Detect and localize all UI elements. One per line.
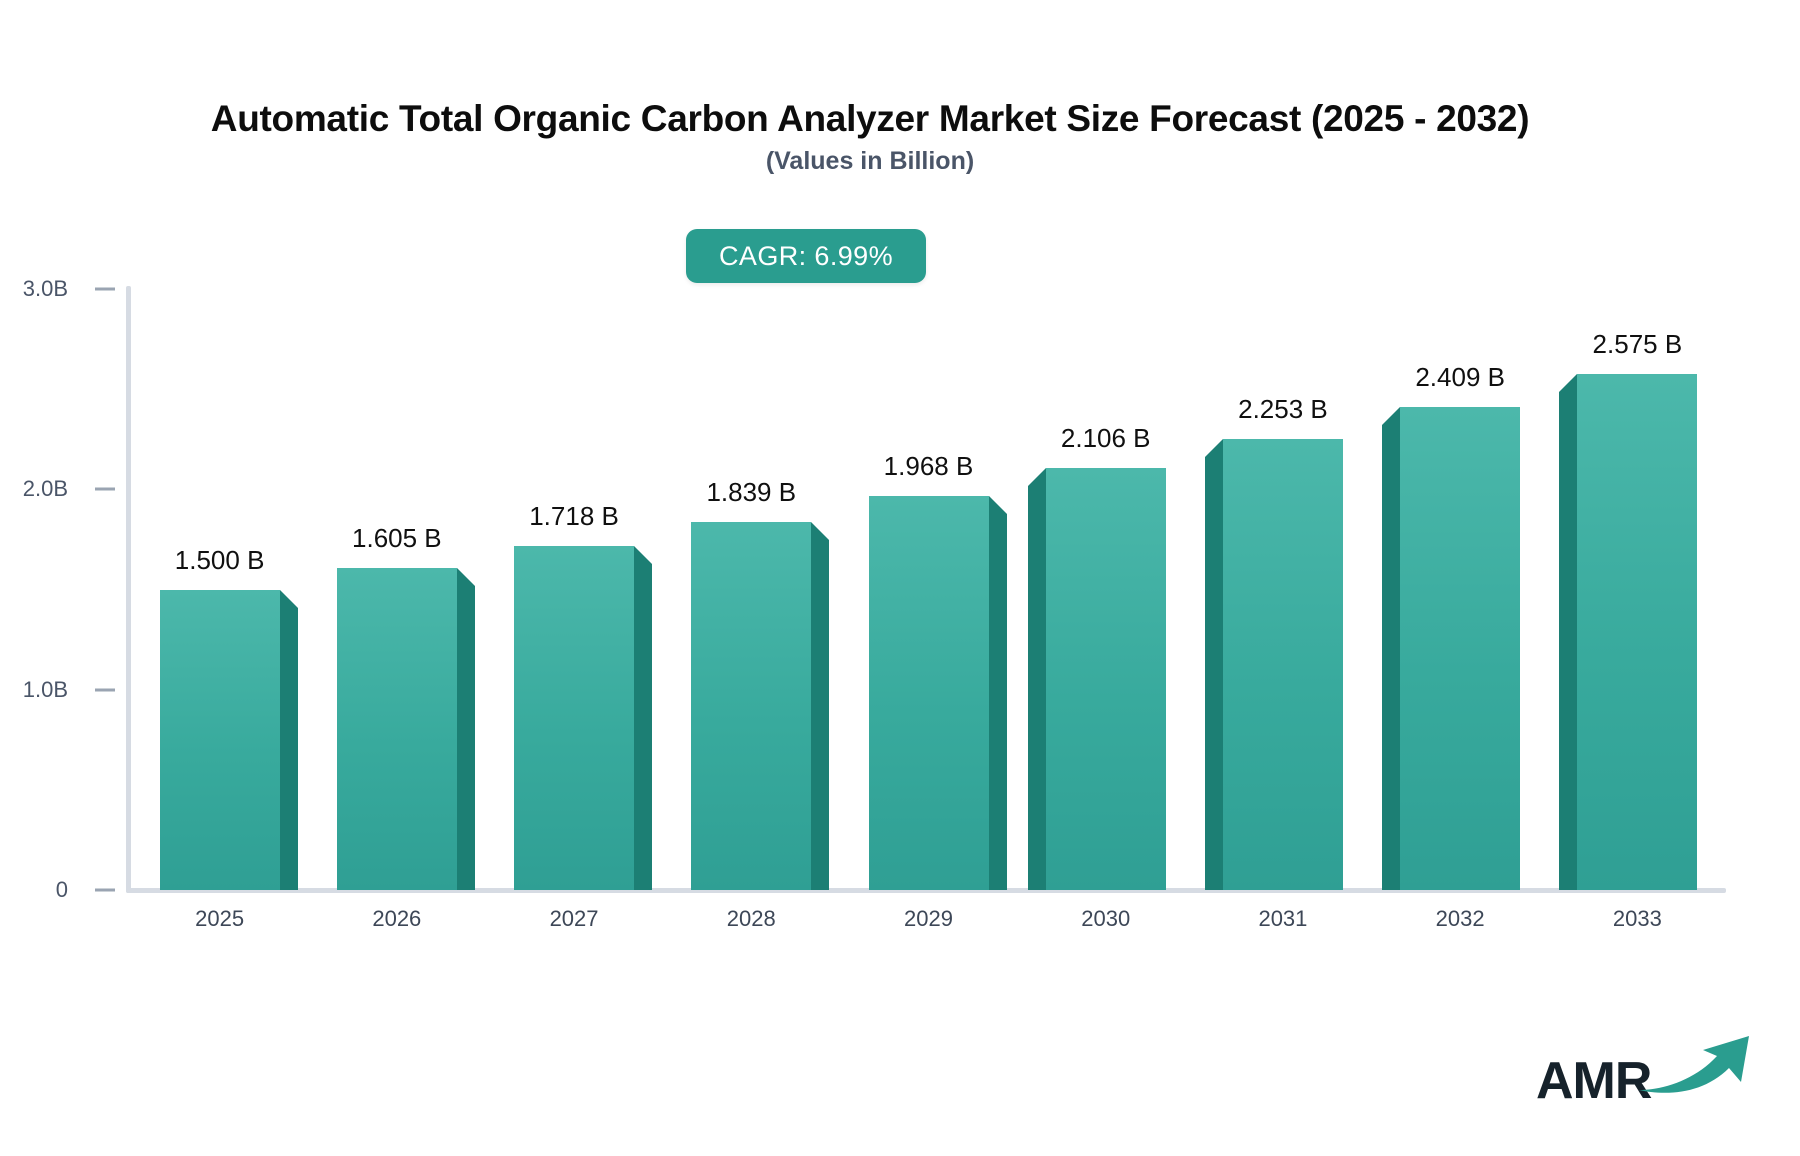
- bar-top-bevel: [811, 522, 829, 540]
- bar-side-face: [280, 608, 298, 891]
- bar-value-label: 2.106 B: [1061, 423, 1151, 454]
- y-axis-tick-label: 1.0B: [0, 677, 68, 703]
- bar-front-face: [1577, 374, 1697, 890]
- x-axis-tick-label: 2027: [514, 906, 634, 932]
- x-axis-tick-label: 2025: [160, 906, 280, 932]
- x-axis-tick-label: 2029: [869, 906, 989, 932]
- bar-top-bevel: [1028, 468, 1046, 486]
- bar-top-bevel: [457, 568, 475, 586]
- bar-side-face: [811, 540, 829, 890]
- bar-top-bevel: [280, 590, 298, 608]
- bar-top-bevel: [1559, 374, 1577, 392]
- amr-logo: AMR: [1536, 1040, 1771, 1107]
- bar-value-label: 2.253 B: [1238, 394, 1328, 425]
- x-axis-tick-label: 2031: [1223, 906, 1343, 932]
- y-axis-tick-mark: [95, 488, 115, 491]
- bar-front-face: [1400, 407, 1520, 890]
- bar: 1.718 B: [514, 546, 634, 890]
- plot-area: 01.0B2.0B3.0B 1.500 B1.605 B1.718 B1.839…: [0, 0, 1800, 1156]
- bar: 1.605 B: [337, 568, 457, 890]
- bar-top-bevel: [1382, 407, 1400, 425]
- bar-value-label: 1.968 B: [884, 451, 974, 482]
- bar-value-label: 2.409 B: [1415, 362, 1505, 393]
- bar-side-face: [457, 586, 475, 890]
- bar-value-label: 1.605 B: [352, 523, 442, 554]
- bar-front-face: [337, 568, 457, 890]
- bar-front-face: [691, 522, 811, 890]
- bar-front-face: [514, 546, 634, 890]
- y-axis-line: [126, 286, 131, 893]
- bar-value-label: 1.839 B: [706, 477, 796, 508]
- y-axis-tick-label: 0: [0, 877, 68, 903]
- bar-side-face: [1205, 457, 1223, 890]
- bar-front-face: [160, 590, 280, 891]
- growth-arrow-icon: [1637, 1034, 1757, 1101]
- chart-canvas: Automatic Total Organic Carbon Analyzer …: [0, 0, 1800, 1156]
- bar: 2.409 B: [1400, 407, 1520, 890]
- bar: 1.500 B: [160, 590, 280, 891]
- bar-side-face: [634, 564, 652, 890]
- x-axis-tick-label: 2028: [691, 906, 811, 932]
- bar-front-face: [1046, 468, 1166, 890]
- y-axis-tick-label: 2.0B: [0, 476, 68, 502]
- x-axis-tick-label: 2032: [1400, 906, 1520, 932]
- x-axis-tick-label: 2033: [1577, 906, 1697, 932]
- bar-top-bevel: [989, 496, 1007, 514]
- bar-value-label: 2.575 B: [1593, 329, 1683, 360]
- y-axis-tick-label: 3.0B: [0, 276, 68, 302]
- x-axis-tick-label: 2026: [337, 906, 457, 932]
- y-axis-tick-mark: [95, 288, 115, 291]
- bar: 2.106 B: [1046, 468, 1166, 890]
- bar-value-label: 1.718 B: [529, 501, 619, 532]
- bar-front-face: [1223, 439, 1343, 890]
- bar-top-bevel: [1205, 439, 1223, 457]
- amr-logo-text: AMR: [1536, 1055, 1651, 1107]
- bar: 1.968 B: [869, 496, 989, 890]
- bar-front-face: [869, 496, 989, 890]
- bar-top-bevel: [634, 546, 652, 564]
- y-axis-tick-mark: [95, 889, 115, 892]
- bar: 2.253 B: [1223, 439, 1343, 890]
- bar-side-face: [1559, 392, 1577, 890]
- bar: 2.575 B: [1577, 374, 1697, 890]
- y-axis-tick-mark: [95, 688, 115, 691]
- bar-value-label: 1.500 B: [175, 545, 265, 576]
- bar-side-face: [1028, 486, 1046, 890]
- bar-side-face: [1382, 425, 1400, 890]
- bar-side-face: [989, 514, 1007, 890]
- bar: 1.839 B: [691, 522, 811, 890]
- x-axis-tick-label: 2030: [1046, 906, 1166, 932]
